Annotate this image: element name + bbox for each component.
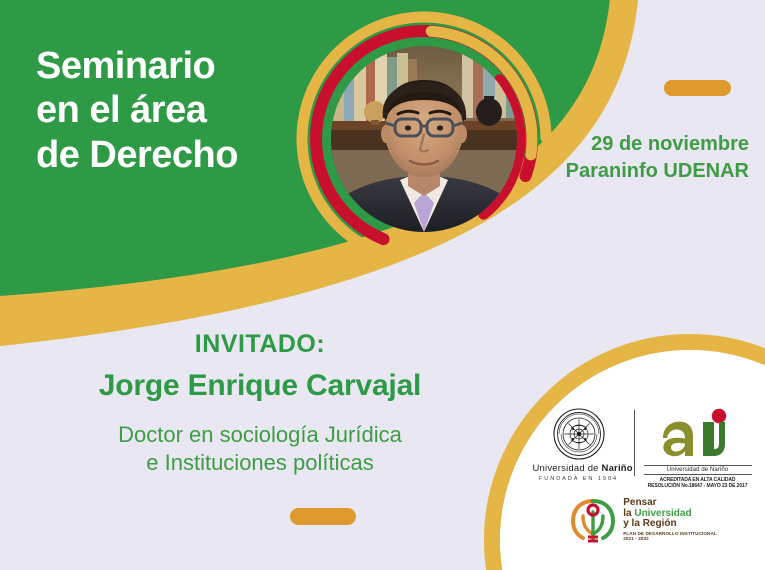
udenar-seal-icon xyxy=(553,408,605,460)
logo-divider xyxy=(634,410,635,476)
page-title: Seminario en el área de Derecho xyxy=(36,44,326,177)
poster-canvas: Seminario en el área de Derecho 29 de no… xyxy=(0,0,765,570)
invited-label: INVITADO: xyxy=(0,329,520,359)
accreditation-logo: Universidad de Nariño ACREDITADA EN ALTA… xyxy=(644,408,752,490)
udenar-name-bold: Nariño xyxy=(602,463,633,474)
udenar-name: Universidad de Nariño xyxy=(533,463,625,474)
pensar-tree-icon xyxy=(567,494,619,546)
decorative-pill-bottom-left xyxy=(290,508,356,525)
event-date: 29 de noviembre xyxy=(566,131,749,158)
pensar-line-3: y la Región xyxy=(623,519,717,530)
event-details: 29 de noviembre Paraninfo UDENAR xyxy=(566,131,749,185)
ai-institution: Universidad de Nariño xyxy=(644,465,752,475)
ai-mark-icon xyxy=(659,408,737,458)
speaker-name: Jorge Enrique Carvajal xyxy=(0,367,520,405)
event-venue: Paraninfo UDENAR xyxy=(566,158,749,185)
speaker-block: INVITADO: Jorge Enrique Carvajal Doctor … xyxy=(0,329,520,477)
pensar-line-3-accent: Región xyxy=(643,518,677,529)
udenar-founded: FUNDADA EN 1904 xyxy=(533,476,625,482)
udenar-name-prefix: Universidad de xyxy=(533,463,602,474)
logo-row-secondary: Pensar la Universidad y la Región PLAN D… xyxy=(528,494,756,546)
pensar-wordmark: Pensar la Universidad y la Región PLAN D… xyxy=(623,498,717,542)
speaker-role: Doctor en sociología Jurídica e Instituc… xyxy=(0,421,520,477)
pensar-line-2-accent: Universidad xyxy=(634,508,691,519)
udenar-logo: Universidad de Nariño FUNDADA EN 1904 xyxy=(533,408,625,482)
decorative-pill-top-right xyxy=(664,80,731,96)
logo-group: Universidad de Nariño FUNDADA EN 1904 Un… xyxy=(528,408,756,558)
pensar-years: 2021 - 2032 xyxy=(623,537,717,542)
ai-accreditation-lines: ACREDITADA EN ALTA CALIDAD RESOLUCIÓN No… xyxy=(644,477,752,490)
pensar-line-2-plain: la xyxy=(623,508,634,519)
pensar-line-3-plain: y la xyxy=(623,518,642,529)
logo-row-primary: Universidad de Nariño FUNDADA EN 1904 Un… xyxy=(528,408,756,488)
ai-line-2: RESOLUCIÓN No.18647 - MAYO 23 DE 2017 xyxy=(644,483,752,489)
speaker-photo xyxy=(331,46,517,232)
